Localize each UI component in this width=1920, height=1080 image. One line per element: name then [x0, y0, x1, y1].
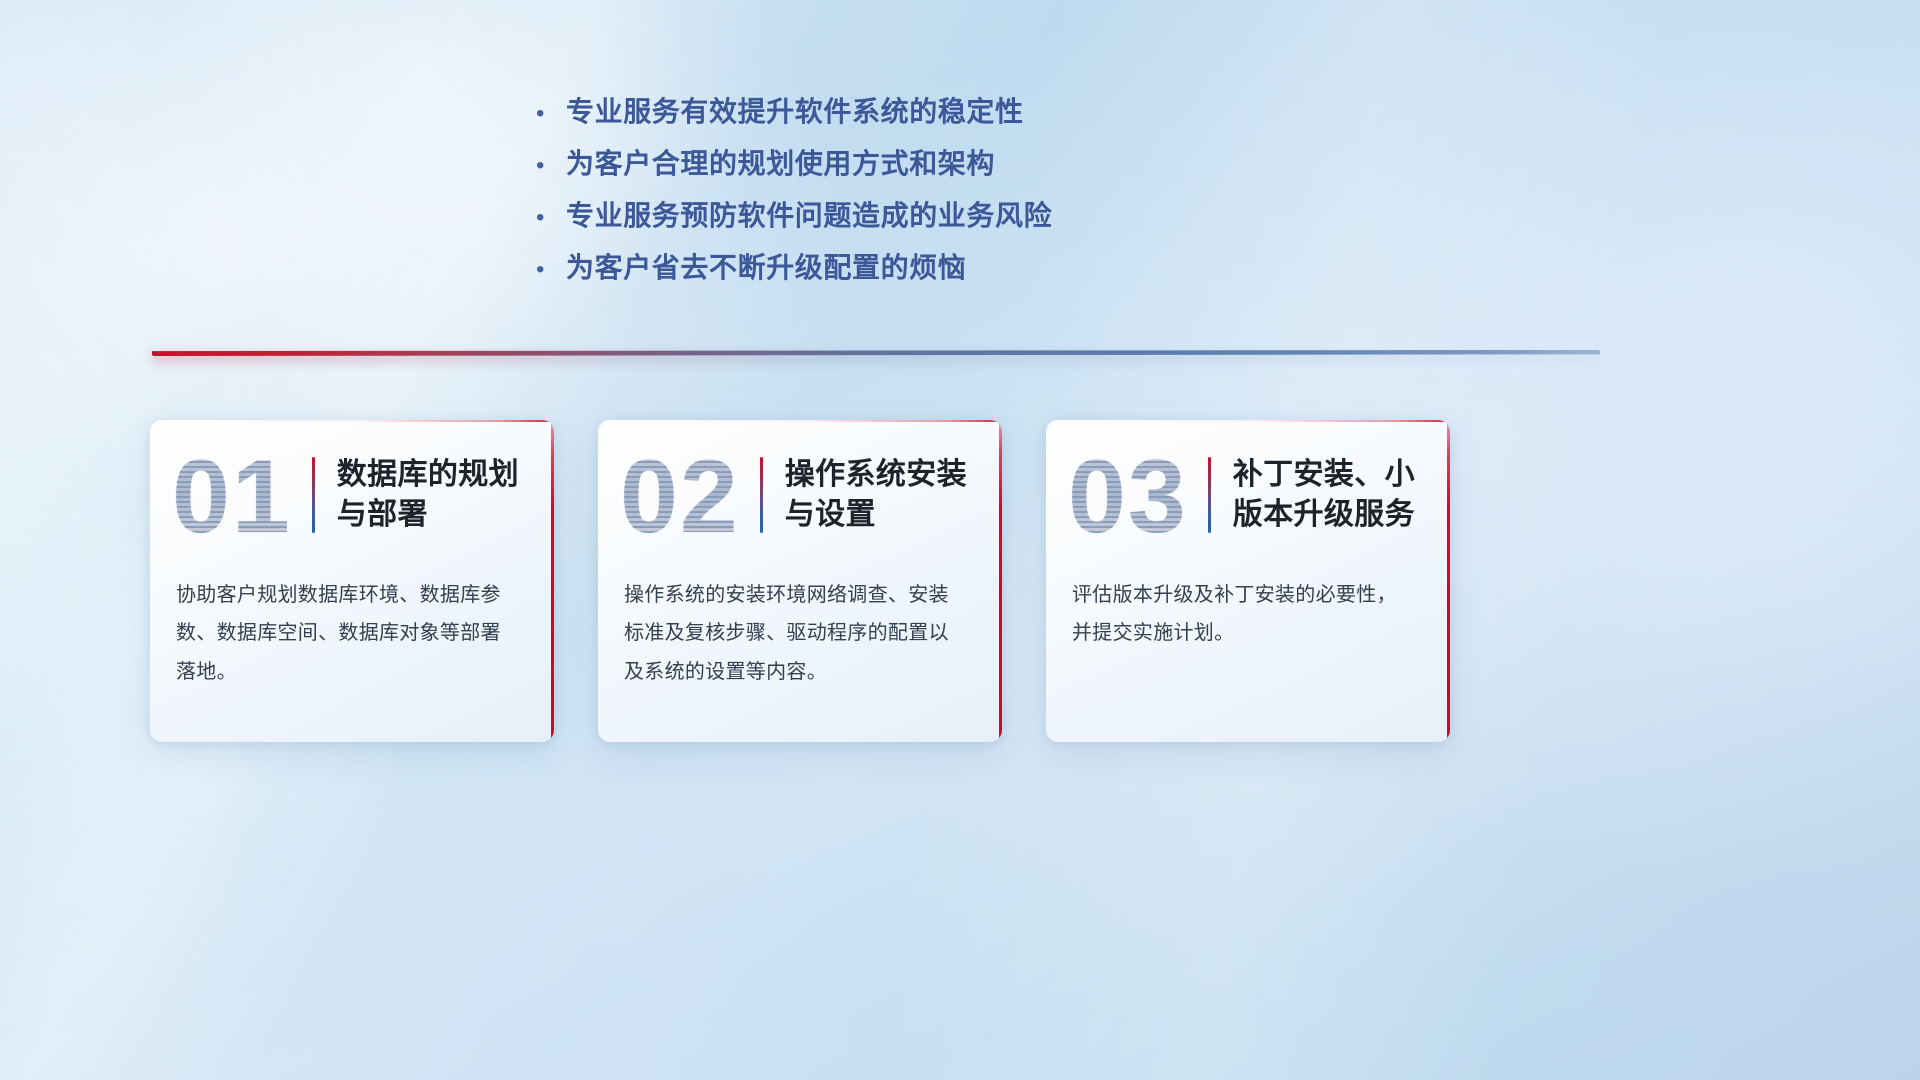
card-header: 03 补丁安装、小版本升级服务 [1046, 420, 1450, 570]
bullet-dot-icon: • [536, 258, 566, 282]
list-item: • 专业服务预防软件问题造成的业务风险 [536, 194, 1052, 246]
card-header: 02 操作系统安装与设置 [598, 420, 1002, 570]
card-description: 协助客户规划数据库环境、数据库参数、数据库空间、数据库对象等部署落地。 [150, 570, 554, 691]
section-divider [152, 346, 1600, 362]
service-card-01[interactable]: 01 数据库的规划与部署 协助客户规划数据库环境、数据库参数、数据库空间、数据库… [150, 420, 554, 742]
bullet-dot-icon: • [536, 102, 566, 126]
card-number: 03 [1068, 441, 1188, 549]
card-title: 补丁安装、小版本升级服务 [1233, 455, 1450, 535]
bullet-text: 专业服务有效提升软件系统的稳定性 [566, 90, 1024, 130]
bullet-text: 专业服务预防软件问题造成的业务风险 [566, 194, 1052, 234]
card-number: 01 [172, 441, 292, 549]
card-header: 01 数据库的规划与部署 [150, 420, 554, 570]
card-description: 评估版本升级及补丁安装的必要性，并提交实施计划。 [1046, 570, 1450, 653]
list-item: • 为客户省去不断升级配置的烦恼 [536, 246, 1052, 298]
service-card-03[interactable]: 03 补丁安装、小版本升级服务 评估版本升级及补丁安装的必要性，并提交实施计划。 [1046, 420, 1450, 742]
bullet-text: 为客户省去不断升级配置的烦恼 [566, 246, 966, 286]
slide-canvas: • 专业服务有效提升软件系统的稳定性 • 为客户合理的规划使用方式和架构 • 专… [0, 0, 1920, 1080]
service-card-list: 01 数据库的规划与部署 协助客户规划数据库环境、数据库参数、数据库空间、数据库… [150, 420, 1750, 745]
bullet-text: 为客户合理的规划使用方式和架构 [566, 142, 995, 182]
card-description: 操作系统的安装环境网络调查、安装标准及复核步骤、驱动程序的配置以及系统的设置等内… [598, 570, 1002, 691]
benefits-bullet-list: • 专业服务有效提升软件系统的稳定性 • 为客户合理的规划使用方式和架构 • 专… [536, 90, 1052, 298]
card-title: 操作系统安装与设置 [785, 455, 1002, 535]
card-accent-divider [312, 457, 315, 533]
bullet-dot-icon: • [536, 154, 566, 178]
bullet-dot-icon: • [536, 206, 566, 230]
card-accent-divider [1208, 457, 1211, 533]
card-accent-divider [760, 457, 763, 533]
service-card-02[interactable]: 02 操作系统安装与设置 操作系统的安装环境网络调查、安装标准及复核步骤、驱动程… [598, 420, 1002, 742]
card-title: 数据库的规划与部署 [337, 455, 554, 535]
list-item: • 专业服务有效提升软件系统的稳定性 [536, 90, 1052, 142]
card-number: 02 [620, 441, 740, 549]
list-item: • 为客户合理的规划使用方式和架构 [536, 142, 1052, 194]
